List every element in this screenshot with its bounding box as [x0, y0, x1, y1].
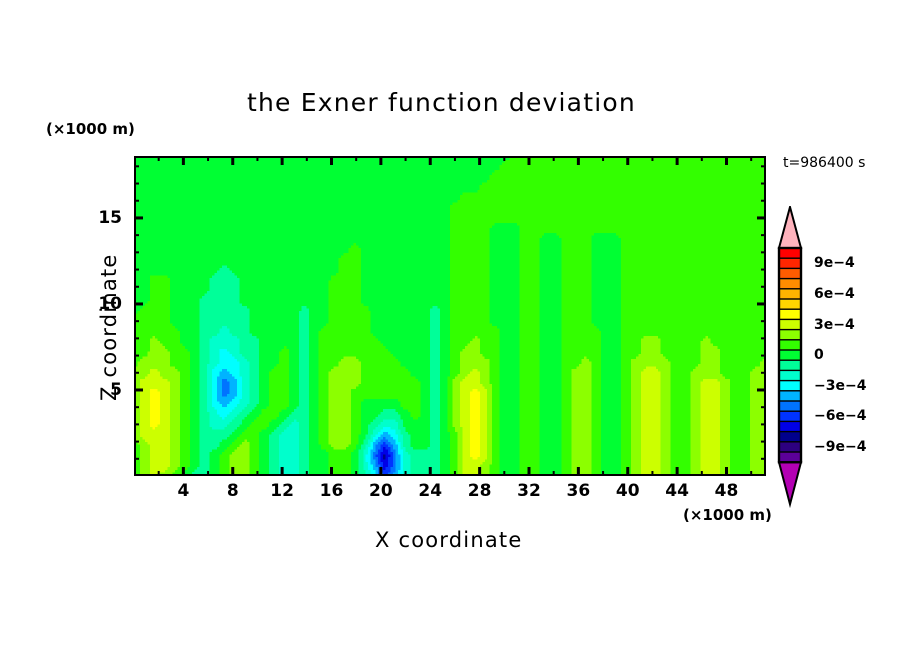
x-tick-label: 20 — [369, 481, 393, 501]
y-tick-label: 5 — [88, 380, 122, 400]
time-annotation: t=986400 s — [783, 155, 865, 171]
colorbar-tick-label: −6e−4 — [814, 408, 866, 424]
x-axis-units-label: (×1000 m) — [683, 506, 772, 524]
colorbar-tick-label: 9e−4 — [814, 255, 855, 271]
y-tick-label: 10 — [88, 294, 122, 314]
x-tick-label: 36 — [567, 481, 591, 501]
colorbar-tick-label: 3e−4 — [814, 317, 855, 333]
y-tick-label: 15 — [88, 208, 122, 228]
x-tick-label: 12 — [270, 481, 294, 501]
x-tick-label: 16 — [320, 481, 344, 501]
figure-canvas: the Exner function deviation (×1000 m) (… — [0, 0, 904, 654]
colorbar-tick-label: 0 — [814, 347, 824, 363]
page-title: the Exner function deviation — [247, 88, 636, 117]
colorbar — [776, 206, 806, 508]
y-axis-units-label: (×1000 m) — [46, 120, 135, 138]
contour-plot — [134, 156, 766, 476]
x-axis-title: X coordinate — [375, 528, 522, 552]
x-tick-label: 24 — [418, 481, 442, 501]
y-axis-title: Z coordinate — [97, 254, 121, 401]
x-tick-label: 28 — [468, 481, 492, 501]
x-tick-label: 40 — [616, 481, 640, 501]
colorbar-tick-label: −3e−4 — [814, 378, 866, 394]
colorbar-tick-label: 6e−4 — [814, 286, 855, 302]
x-tick-label: 44 — [665, 481, 689, 501]
x-tick-label: 4 — [177, 481, 189, 501]
x-tick-label: 8 — [227, 481, 239, 501]
x-tick-label: 32 — [517, 481, 541, 501]
x-tick-label: 48 — [715, 481, 739, 501]
colorbar-tick-label: −9e−4 — [814, 439, 866, 455]
